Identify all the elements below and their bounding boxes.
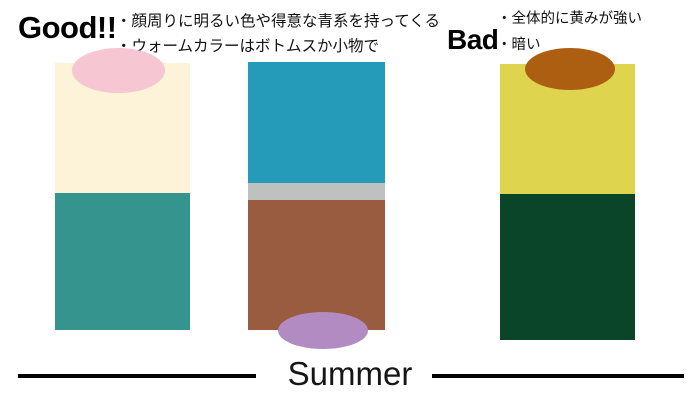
- bad-note-item: ・全体的に黄みが強い: [497, 6, 642, 32]
- summer-color-palette-infographic: Good!! ・顔周りに明るい色や得意な青系を持ってくる ・ウォームカラーはボト…: [0, 0, 700, 400]
- outfit-top-garment-swatch: [248, 62, 385, 183]
- outfit-belt-swatch: [248, 183, 385, 200]
- bad-outfit-figure: [500, 64, 635, 340]
- good-outfit-left-figure: [55, 63, 190, 330]
- outfit-bottom-garment-swatch: [248, 200, 385, 330]
- good-notes-list: ・顔周りに明るい色や得意な青系を持ってくる ・ウォームカラーはボトムスか小物で: [116, 9, 440, 59]
- good-verdict-label: Good!!: [18, 12, 117, 43]
- face-accent-ellipse: [72, 48, 165, 93]
- face-accent-ellipse: [525, 48, 615, 90]
- season-caption: Summer: [0, 354, 700, 394]
- outfit-bottom-garment-swatch: [500, 194, 635, 340]
- good-outfit-right-figure: [248, 62, 385, 330]
- bag-accent-ellipse: [278, 312, 368, 349]
- bad-verdict-label: Bad: [447, 26, 498, 54]
- good-note-item: ・ウォームカラーはボトムスか小物で: [116, 34, 440, 59]
- outfit-bottom-garment-swatch: [55, 193, 190, 330]
- good-note-item: ・顔周りに明るい色や得意な青系を持ってくる: [116, 9, 440, 34]
